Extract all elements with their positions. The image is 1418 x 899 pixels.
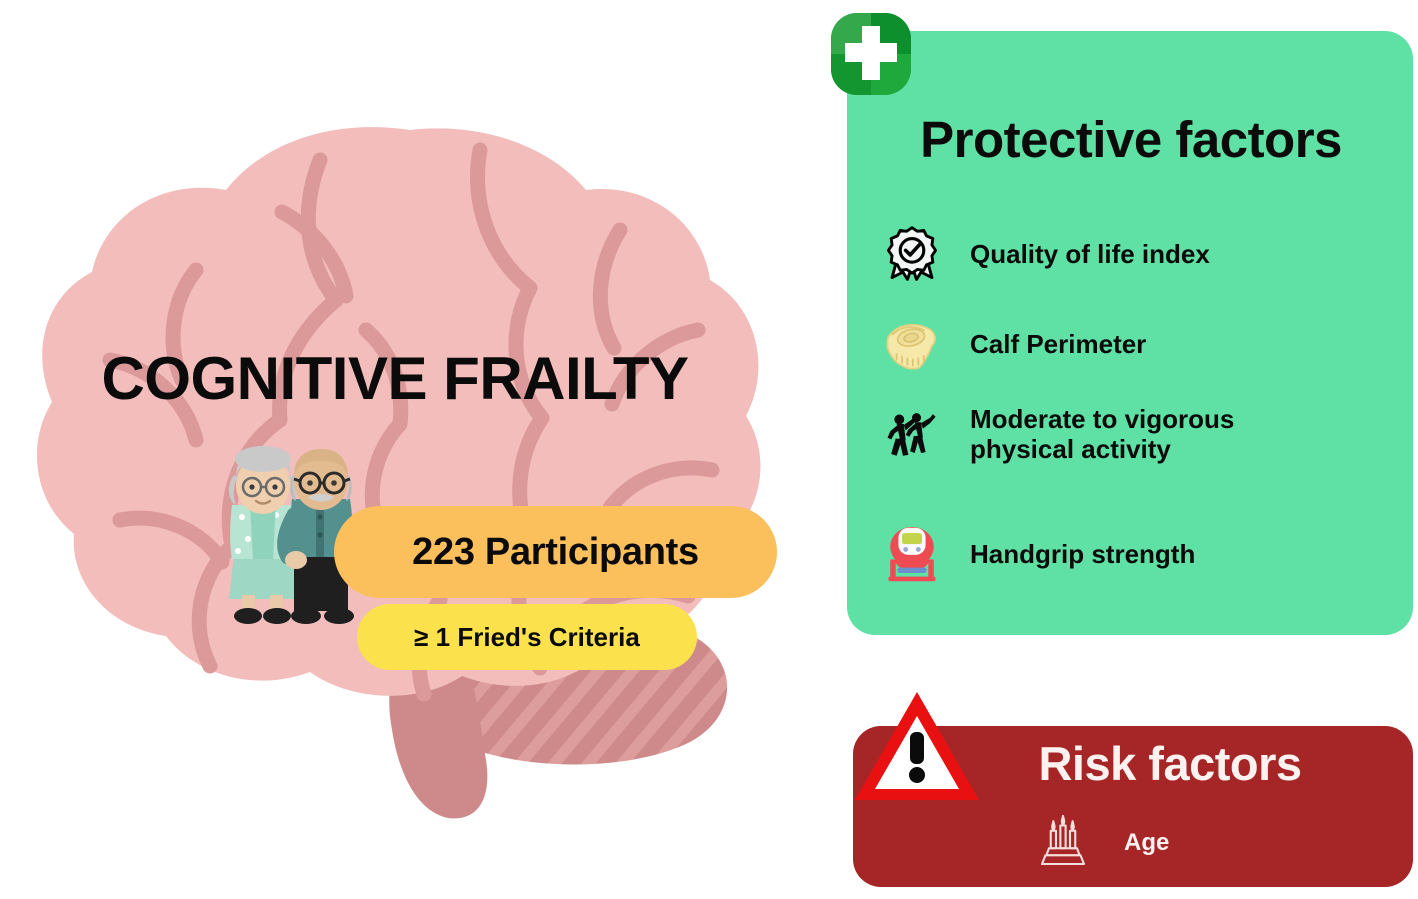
page-title: COGNITIVE FRAILTY	[0, 344, 790, 413]
birthday-cake-icon	[1032, 812, 1094, 874]
protective-item-label: Calf Perimeter	[970, 329, 1146, 359]
criteria-label: ≥ 1 Fried's Criteria	[414, 622, 640, 653]
brain-illustration	[0, 0, 820, 899]
protective-item-label: Handgrip strength	[970, 539, 1195, 569]
risk-factors-title: Risk factors	[970, 736, 1370, 791]
protective-item-quality-of-life: Quality of life index	[876, 218, 1210, 290]
award-ribbon-icon	[876, 218, 948, 290]
warning-triangle-icon	[853, 688, 981, 806]
dynamometer-icon	[876, 518, 948, 590]
participants-label: 223 Participants	[412, 531, 699, 574]
risk-item-label: Age	[1124, 829, 1169, 857]
risk-item-age: Age	[1032, 812, 1169, 874]
medical-cross-icon	[828, 8, 914, 100]
protective-item-physical-activity: Moderate to vigorousphysical activity	[876, 398, 1234, 470]
protective-item-label: Quality of life index	[970, 239, 1210, 269]
protective-item-calf-perimeter: Calf Perimeter	[876, 308, 1146, 380]
criteria-pill: ≥ 1 Fried's Criteria	[357, 604, 697, 670]
protective-factors-title: Protective factors	[855, 110, 1407, 169]
participants-pill: 223 Participants	[334, 506, 777, 598]
physical-activity-icon	[876, 398, 948, 470]
elderly-couple-icon	[196, 443, 356, 629]
measuring-tape-icon	[876, 308, 948, 380]
brain-panel: COGNITIVE FRAILTY	[0, 0, 820, 899]
protective-item-label: Moderate to vigorousphysical activity	[970, 404, 1234, 464]
protective-item-handgrip-strength: Handgrip strength	[876, 518, 1195, 590]
